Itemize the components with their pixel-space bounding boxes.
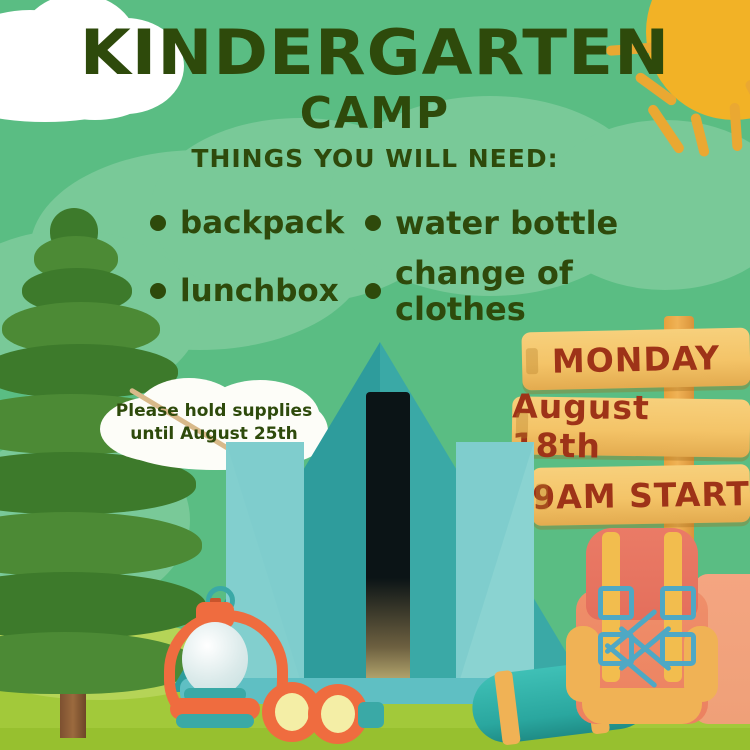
tent-door-icon [366,392,410,692]
supply-label: lunchbox [180,273,339,309]
bullet-dot-icon [150,215,166,231]
page-subtitle: CAMP [0,92,750,136]
list-item: lunchbox [150,255,355,327]
supply-list: backpack water bottle lunchbox change of… [150,205,690,327]
lantern-icon [160,588,270,728]
list-item: water bottle [365,205,690,241]
needs-heading: THINGS YOU WILL NEED: [0,146,750,171]
bullet-dot-icon [365,215,381,231]
page-title: KINDERGARTEN [0,22,750,84]
bullet-dot-icon [150,283,166,299]
binoculars-icon [262,680,382,742]
bullet-dot-icon [365,283,381,299]
kindergarten-camp-poster: KINDERGARTEN CAMP THINGS YOU WILL NEED: … [0,0,750,750]
supply-label: backpack [180,205,344,241]
backpack-icon [572,528,712,724]
list-item: backpack [150,205,355,241]
supply-label: water bottle [395,205,618,241]
note-text: Please hold supplies until August 25th [100,400,328,446]
